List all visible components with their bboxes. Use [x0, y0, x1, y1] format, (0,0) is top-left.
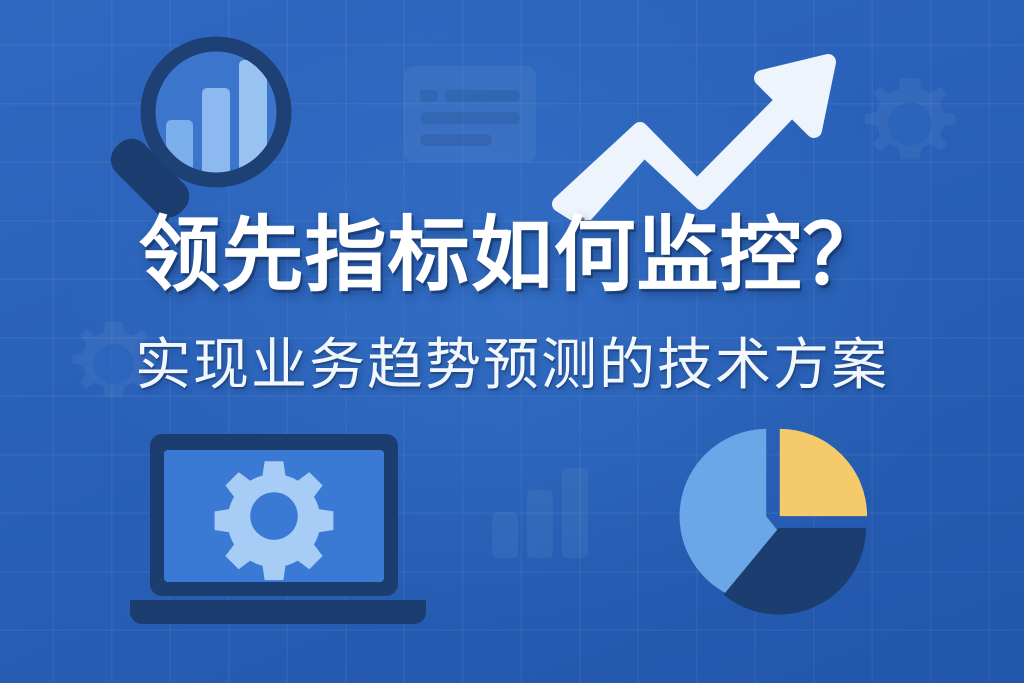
page-title: 领先指标如何监控？ [0, 214, 1024, 298]
trend-up-arrow-icon [552, 52, 844, 225]
magnifier-bar-chart-icon [98, 30, 314, 235]
gear-watermark-icon-top-right [858, 72, 962, 176]
pie-slice-yellow [780, 429, 867, 516]
document-card-watermark-icon [404, 66, 536, 162]
laptop-gear-icon [128, 432, 428, 633]
bar-chart-watermark-icon [492, 466, 588, 558]
sub-title-block: 实现业务趋势预测的技术方案 [0, 336, 1024, 395]
main-title-block: 领先指标如何监控？ [0, 214, 1024, 298]
laptop-base [130, 600, 426, 624]
page-subtitle: 实现业务趋势预测的技术方案 [0, 336, 1024, 395]
pie-chart-icon [676, 424, 870, 625]
poster-canvas: 领先指标如何监控？ 实现业务趋势预测的技术方案 [0, 0, 1024, 683]
